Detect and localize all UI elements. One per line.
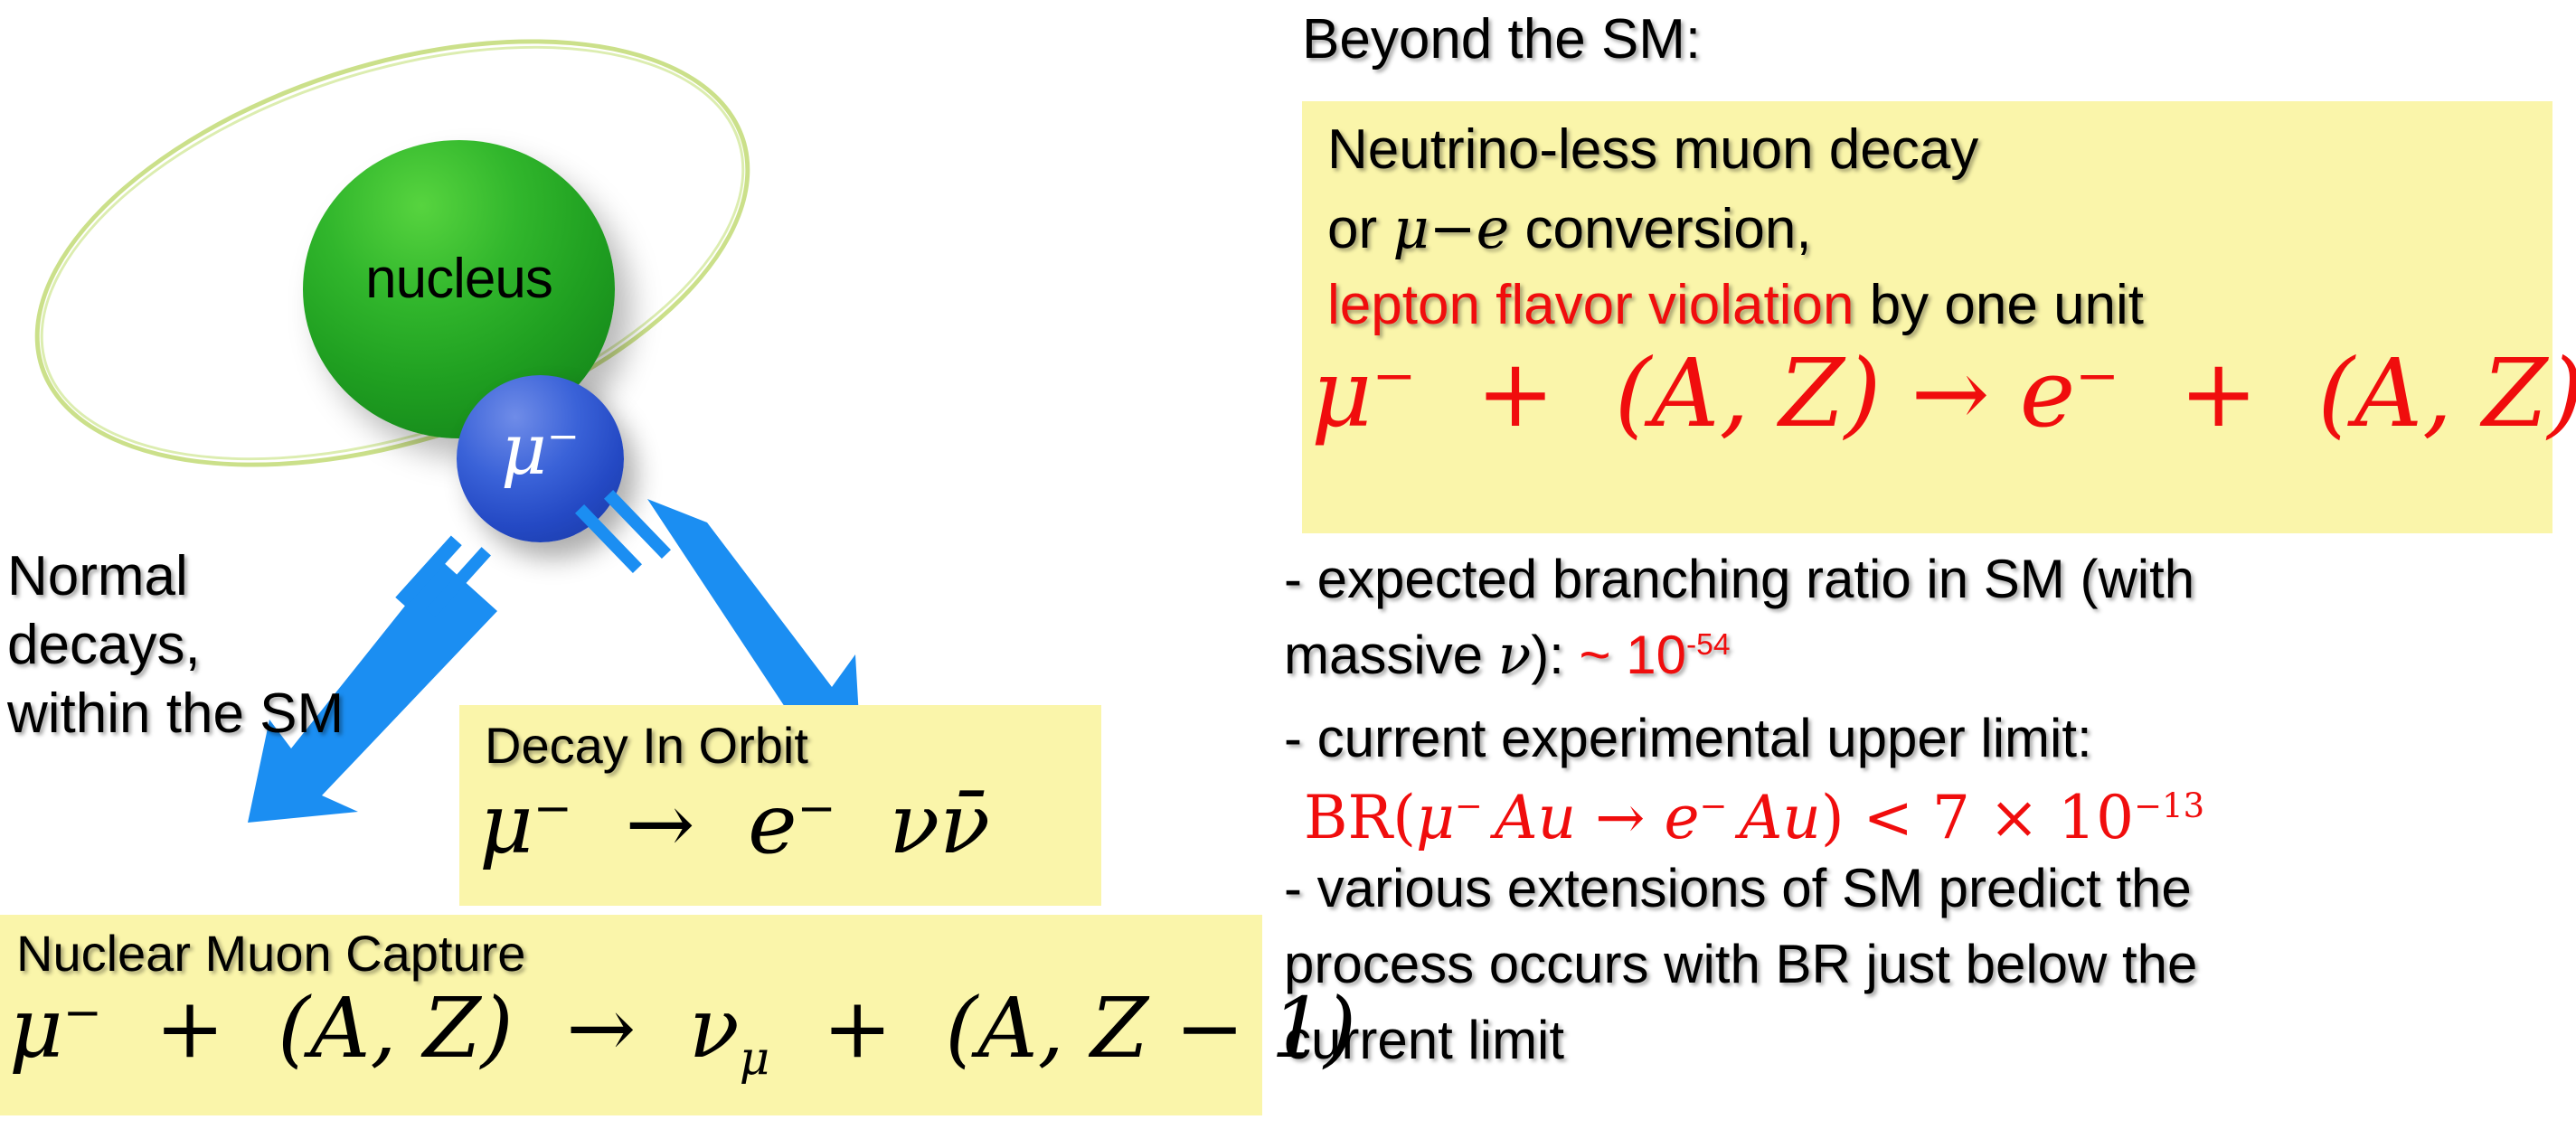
neutrino-math: ν — [1498, 624, 1531, 687]
normal-decays-line-1: Normal — [7, 542, 344, 611]
bsm-line-2: or μ−e conversion, — [1327, 195, 1812, 261]
beyond-sm-box: Neutrino-less muon decay or μ−e conversi… — [1302, 101, 2552, 533]
normal-decays-line-3: within the SM — [7, 680, 344, 748]
bsm-line-3: lepton flavor violation by one unit — [1327, 273, 2144, 337]
br-exponent: -54 — [1686, 628, 1731, 662]
right-column: Beyond the SM: Neutrino-less muon decay … — [1266, 0, 2576, 1148]
nuclear-muon-capture-title: Nuclear Muon Capture — [16, 924, 525, 983]
mu-e-math: μ−e — [1392, 195, 1509, 261]
nucleus-label: nucleus — [303, 247, 615, 311]
nuclear-muon-capture-equation: μ− + (A, Z) → νμ + (A, Z − 1) — [9, 980, 1356, 1086]
bsm-line-1: Neutrino-less muon decay — [1327, 118, 1978, 182]
nuclear-muon-capture-box: Nuclear Muon Capture μ− + (A, Z) → νμ + … — [0, 915, 1262, 1115]
decay-in-orbit-title: Decay In Orbit — [485, 716, 808, 775]
normal-decays-line-2: decays, — [7, 611, 344, 680]
bullet-expected-br-line-1: - expected branching ratio in SM (with — [1284, 548, 2194, 610]
muonic-atom-diagram: nucleus μ− — [0, 0, 1266, 1148]
lfv-red-text: lepton flavor violation — [1327, 274, 1854, 336]
bullet-current-limit-line-1: - current experimental upper limit: — [1284, 707, 2092, 769]
bullet-sm-extensions-line-1: - various extensions of SM predict the — [1284, 857, 2192, 919]
lfv-conversion-equation: μ− + (A, Z) → e− + (A, Z) — [1311, 338, 2576, 448]
bullet-sm-extensions-line-2: process occurs with BR just below the — [1284, 933, 2197, 995]
slide-root: nucleus μ− — [0, 0, 2576, 1148]
beyond-sm-heading: Beyond the SM: — [1302, 7, 1701, 71]
bullet-expected-br-line-2: massive ν): ~ 10-54 — [1284, 624, 1731, 687]
lfv-black-text: by one unit — [1854, 274, 2144, 336]
normal-decays-caption: Normal decays, within the SM — [7, 542, 344, 748]
decay-in-orbit-box: Decay In Orbit μ− → e− νν̄ — [459, 705, 1101, 906]
current-upper-limit-equation: BR(μ− Au → e− Au) < 7 × 10−13 — [1304, 783, 2204, 852]
br-value: ~ 10 — [1580, 625, 1686, 685]
bullet-sm-extensions-line-3: current limit — [1284, 1009, 1564, 1071]
decay-in-orbit-equation: μ− → e− νν̄ — [479, 776, 990, 872]
